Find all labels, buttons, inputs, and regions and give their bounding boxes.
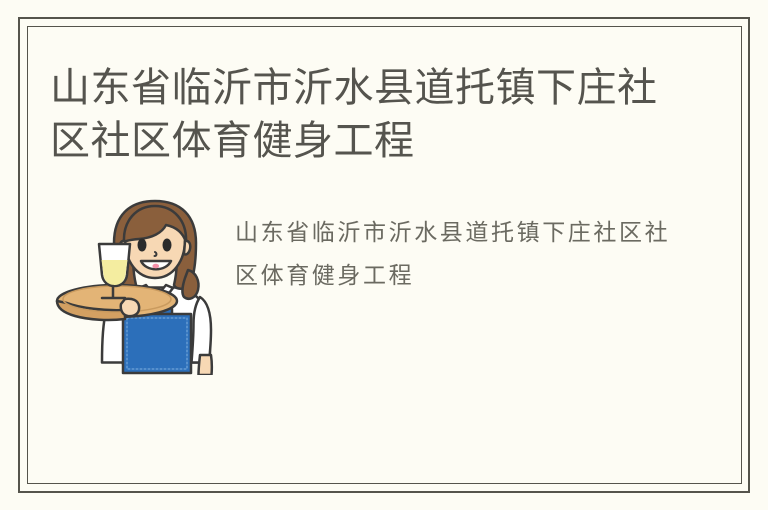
- right-sleeve: [192, 297, 212, 363]
- poster-canvas: 山东省临沂市沂水县道托镇下庄社区社区体育健身工程: [0, 0, 768, 510]
- apron-body: [123, 314, 191, 373]
- body-caption: 山东省临沂市沂水县道托镇下庄社区社区体育健身工程: [235, 212, 695, 298]
- waitress-with-tray-illustration: [50, 190, 215, 375]
- page-title: 山东省临沂市沂水县道托镇下庄社区社区体育健身工程: [50, 62, 690, 168]
- right-hand: [199, 355, 212, 375]
- tongue: [153, 264, 160, 269]
- content-row: 山东省临沂市沂水县道托镇下庄社区社区体育健身工程: [50, 190, 710, 380]
- left-eye: [138, 239, 147, 252]
- right-ear: [184, 241, 190, 255]
- tray-hand: [121, 299, 139, 316]
- right-eye: [163, 239, 172, 252]
